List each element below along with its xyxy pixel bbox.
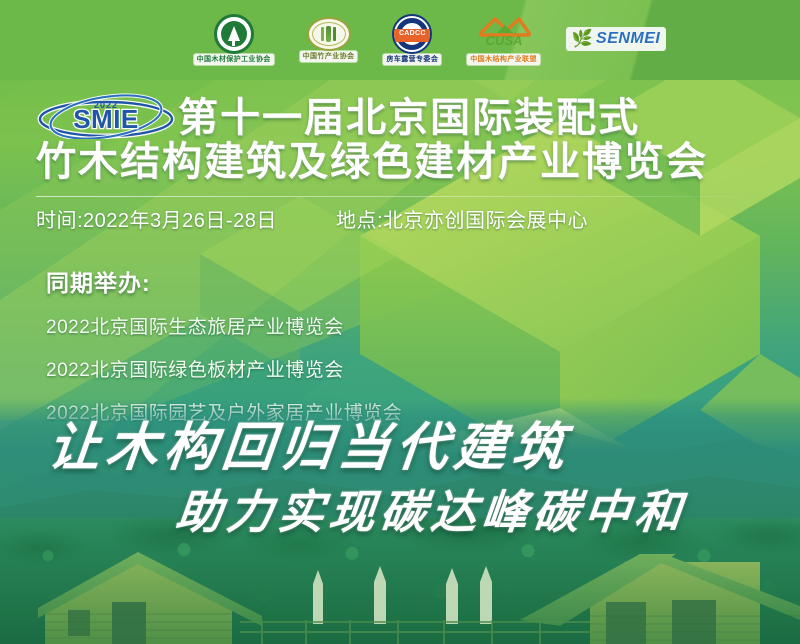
concurrent-heading: 同期举办: (46, 264, 402, 298)
senmei-wordmark: SENMEI (596, 30, 660, 48)
pine-tree-shield-icon (214, 14, 254, 54)
smie-wordmark: SMIE (73, 104, 139, 134)
logo-bamboo-label: 中国竹产业协会 (300, 51, 358, 62)
sponsor-logo-row: 中国木材保护工业协会 中国竹产业协会 CADCC 房车露营专委会 (0, 8, 800, 70)
wooden-cabins-illustration (0, 540, 800, 644)
concurrent-item: 2022北京国际生态旅居产业博览会 (46, 312, 402, 339)
cabin-right (520, 554, 800, 644)
title-divider (36, 196, 772, 197)
logo-bamboo-association: 中国竹产业协会 (300, 17, 358, 62)
title-line-1: 第十一届北京国际装配式 (178, 96, 640, 140)
event-venue: 地点:北京亦创国际会展中心 (336, 204, 588, 233)
cadcc-abbr: CADCC (399, 30, 426, 37)
cadcc-roundel-icon: CADCC (392, 14, 432, 54)
concurrent-item: 2022北京国际绿色板材产业博览会 (46, 355, 402, 382)
bamboo-oval-icon (307, 17, 351, 51)
logo-cwpia-label: 中国木材保护工业协会 (194, 54, 274, 65)
logo-cusa-label: 中国木结构产业联盟 (467, 54, 540, 65)
title-line-2: 竹木结构建筑及绿色建材产业博览会 (36, 140, 708, 184)
house-roof-icon: CUSA (475, 13, 533, 54)
patio-umbrellas (313, 566, 492, 624)
svg-text:CUSA: CUSA (485, 33, 522, 48)
slogan-line-1: 让木构回归当代建筑 (45, 420, 573, 478)
slogan-line-2: 助力实现碳达峰碳中和 (173, 487, 688, 539)
logo-senmei: 🌿 SENMEI (566, 27, 667, 51)
cabin-left (38, 552, 262, 644)
event-date: 时间:2022年3月26日-28日 (36, 204, 336, 233)
logo-cwpia: 中国木材保护工业协会 (194, 14, 274, 65)
leaf-sprout-icon: 🌿 (572, 32, 593, 46)
event-meta: 时间:2022年3月26日-28日 地点:北京亦创国际会展中心 (36, 204, 776, 233)
expo-poster: 中国木材保护工业协会 中国竹产业协会 CADCC 房车露营专委会 (0, 0, 800, 644)
logo-cadcc: CADCC 房车露营专委会 (383, 14, 441, 65)
logo-cusa: CUSA 中国木结构产业联盟 (467, 13, 540, 65)
smie-orbit-logo: 2022 SMIE (36, 93, 176, 139)
logo-cadcc-label: 房车露营专委会 (383, 54, 441, 65)
deck-railing (240, 620, 590, 644)
